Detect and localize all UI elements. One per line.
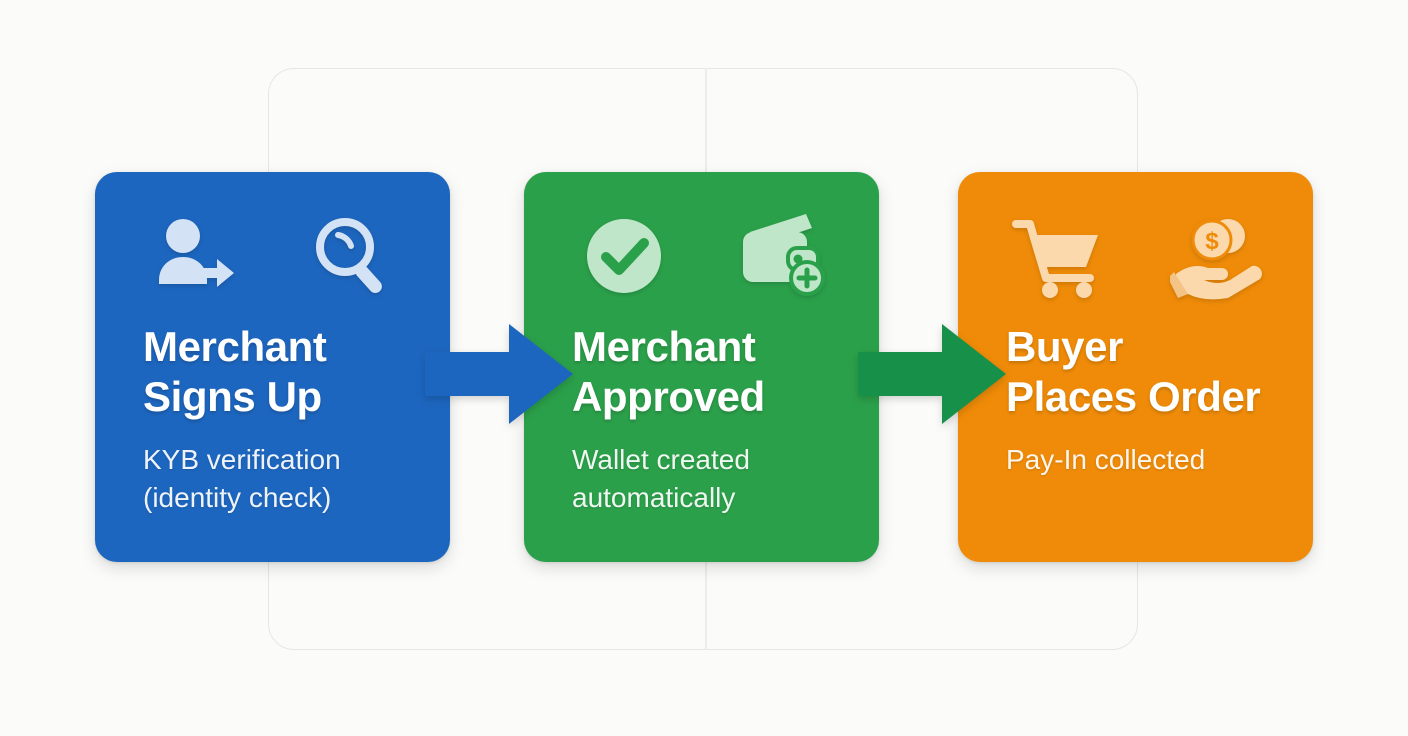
shopping-cart-icon [1012, 210, 1104, 302]
step-title: Merchant Approved [572, 322, 837, 421]
step-subtitle: KYB verification (identity check) [143, 441, 408, 517]
step-subtitle: Wallet created automatically [572, 441, 837, 517]
step-card-buyer-places-order[interactable]: $ Buyer Places Order Pay-In collected [958, 172, 1313, 562]
magnifier-icon [307, 210, 399, 302]
wallet-add-icon [736, 210, 828, 302]
connector-arrow-1 [425, 318, 573, 430]
step-card-merchant-approved[interactable]: Merchant Approved Wallet created automat… [524, 172, 879, 562]
step-icon-group [143, 208, 408, 304]
connector-arrow-2 [858, 318, 1006, 430]
step-icon-group: $ [1006, 208, 1271, 304]
diagram-canvas: Merchant Signs Up KYB verification (iden… [0, 0, 1408, 736]
step-title: Buyer Places Order [1006, 322, 1271, 421]
step-icon-group [572, 208, 837, 304]
svg-text:$: $ [1205, 228, 1219, 255]
user-add-icon [149, 210, 241, 302]
step-title: Merchant Signs Up [143, 322, 408, 421]
check-circle-icon [578, 210, 670, 302]
step-card-merchant-signs-up[interactable]: Merchant Signs Up KYB verification (iden… [95, 172, 450, 562]
hand-coin-icon: $ [1170, 210, 1262, 302]
step-subtitle: Pay-In collected [1006, 441, 1271, 479]
